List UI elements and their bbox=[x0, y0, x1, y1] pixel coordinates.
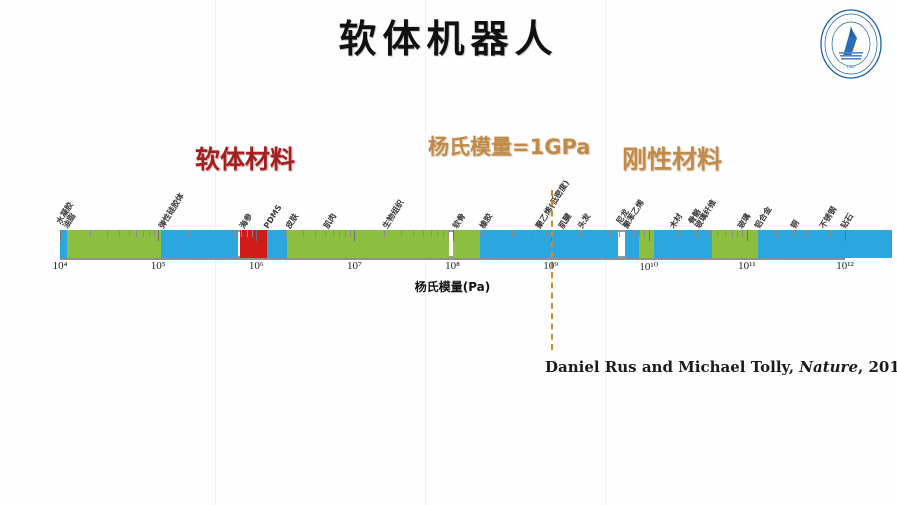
x-axis-title: 杨氏模量(Pa) bbox=[55, 278, 850, 295]
axis-tick-minor bbox=[443, 230, 444, 237]
axis-tick-minor bbox=[644, 230, 645, 237]
axis-tick-major bbox=[747, 230, 748, 241]
material-label: 头发 bbox=[577, 212, 593, 230]
material-label: 玻璃 bbox=[736, 212, 752, 230]
axis-tick-minor bbox=[776, 230, 777, 237]
axis-tick-label: 10⁷ bbox=[347, 260, 362, 272]
axis-tick-major bbox=[256, 230, 257, 241]
axis-tick-minor bbox=[794, 230, 795, 237]
svg-text:1952: 1952 bbox=[847, 64, 857, 69]
axis-tick-minor bbox=[499, 230, 500, 237]
axis-tick-minor bbox=[333, 230, 334, 237]
axis-tick-minor bbox=[521, 230, 522, 237]
axis-tick-minor bbox=[350, 230, 351, 237]
axis-tick-label: 10¹¹ bbox=[738, 260, 756, 272]
material-label: 肌肉 bbox=[323, 212, 339, 230]
material-label: 肌腱 bbox=[558, 212, 574, 230]
axis-tick-minor bbox=[423, 230, 424, 237]
axis-tick-minor bbox=[696, 230, 697, 237]
axis-tick-minor bbox=[512, 230, 513, 237]
material-band bbox=[67, 230, 161, 258]
axis-tick-minor bbox=[841, 230, 842, 237]
citation: Daniel Rus and Michael Tolly, Nature, 20… bbox=[545, 358, 897, 376]
citation-year: , 2015 bbox=[858, 358, 897, 376]
axis-tick-minor bbox=[708, 230, 709, 237]
axis-tick-minor bbox=[345, 230, 346, 237]
youngs-modulus-scale-chart: 水凝胶油脂弹性硅胶体海参PDMS皮肤肌肉生物组织软骨橡胶聚乙烯(低密度)肌腱头发… bbox=[55, 190, 850, 300]
material-band bbox=[834, 230, 893, 258]
material-label: 弹性硅胶体 bbox=[158, 192, 186, 230]
material-band bbox=[385, 230, 450, 258]
material-label: 橡胶 bbox=[479, 212, 495, 230]
axis-tick-minor bbox=[815, 230, 816, 237]
annotation-rigid-materials: 刚性材料 bbox=[622, 140, 722, 176]
axis-tick-minor bbox=[529, 230, 530, 237]
axis-tick-minor bbox=[619, 230, 620, 237]
axis-tick-minor bbox=[448, 230, 449, 237]
axis-tick-major bbox=[60, 230, 61, 241]
axis-tick-minor bbox=[835, 230, 836, 237]
annotation-soft-materials: 软体材料 bbox=[195, 140, 295, 176]
presentation-slide: 软体机器人 1952 软体材料 杨氏模量=1GPa 刚性材料 水凝胶油脂弹性硅胶… bbox=[0, 0, 897, 505]
axis-tick-minor bbox=[401, 230, 402, 237]
axis-tick-minor bbox=[188, 230, 189, 237]
axis-tick-minor bbox=[339, 230, 340, 237]
axis-tick-minor bbox=[205, 230, 206, 237]
axis-tick-minor bbox=[437, 230, 438, 237]
axis-tick-minor bbox=[234, 230, 235, 237]
axis-tick-minor bbox=[541, 230, 542, 237]
axis-tick-minor bbox=[806, 230, 807, 237]
axis-tick-minor bbox=[107, 230, 108, 237]
axis-tick-minor bbox=[252, 230, 253, 237]
axis-tick-minor bbox=[413, 230, 414, 237]
axis-tick-major bbox=[845, 230, 846, 241]
axis-tick-minor bbox=[247, 230, 248, 237]
axis-tick-minor bbox=[627, 230, 628, 237]
axis-tick-minor bbox=[830, 230, 831, 237]
axis-tick-minor bbox=[149, 230, 150, 237]
citation-journal: Nature bbox=[799, 358, 858, 376]
axis-tick-minor bbox=[580, 230, 581, 237]
axis-tick-minor bbox=[286, 230, 287, 237]
axis-tick-minor bbox=[732, 230, 733, 237]
axis-tick-major bbox=[354, 230, 355, 241]
axis-tick-label: 10⁹ bbox=[543, 260, 558, 272]
axis-tick-label: 10⁶ bbox=[249, 260, 264, 272]
material-label: 水凝胶油脂 bbox=[56, 201, 82, 230]
axis-tick-minor bbox=[823, 230, 824, 237]
material-label: 木材 bbox=[669, 212, 685, 230]
material-label: PDMS bbox=[263, 203, 284, 230]
axis-tick-minor bbox=[384, 230, 385, 237]
axis-tick-minor bbox=[154, 230, 155, 237]
axis-tick-minor bbox=[742, 230, 743, 237]
annotation-1gpa: 杨氏模量=1GPa bbox=[428, 131, 590, 161]
material-label: 尼龙聚苯乙烯 bbox=[616, 194, 647, 230]
axis-tick-minor bbox=[136, 230, 137, 237]
material-label: 皮肤 bbox=[285, 212, 301, 230]
axis-tick-minor bbox=[315, 230, 316, 237]
axis-tick-major bbox=[649, 230, 650, 241]
axis-tick-minor bbox=[535, 230, 536, 237]
axis-tick-minor bbox=[737, 230, 738, 237]
axis-tick-minor bbox=[431, 230, 432, 237]
page-title: 软体机器人 bbox=[0, 8, 897, 63]
axis-tick-minor bbox=[325, 230, 326, 237]
axis-tick-label: 10¹⁰ bbox=[639, 260, 658, 273]
axis-tick-minor bbox=[143, 230, 144, 237]
axis-tick-minor bbox=[241, 230, 242, 237]
axis-tick-minor bbox=[717, 230, 718, 237]
axis-tick-minor bbox=[129, 230, 130, 237]
material-label: 生物组织 bbox=[382, 198, 406, 230]
material-label: 钻石 bbox=[840, 212, 856, 230]
axis-tick-minor bbox=[725, 230, 726, 237]
material-label: 铜 bbox=[790, 219, 801, 230]
axis-tick-major bbox=[158, 230, 159, 241]
axis-tick-label: 10⁸ bbox=[445, 260, 460, 272]
axis-tick-minor bbox=[678, 230, 679, 237]
axis-tick-major bbox=[453, 230, 454, 241]
axis-tick-minor bbox=[597, 230, 598, 237]
material-label: 软骨 bbox=[452, 212, 468, 230]
axis-tick-label: 10¹² bbox=[836, 260, 854, 272]
material-label: 不锈钢 bbox=[818, 205, 838, 230]
axis-tick-minor bbox=[546, 230, 547, 237]
axis-tick-minor bbox=[610, 230, 611, 237]
axis-tick-minor bbox=[634, 230, 635, 237]
material-band bbox=[325, 230, 390, 258]
axis-tick-minor bbox=[482, 230, 483, 237]
axis-tick-label: 10⁴ bbox=[53, 260, 68, 272]
axis-tick-minor bbox=[217, 230, 218, 237]
material-label: 骨骼玻璃纤维 bbox=[687, 194, 718, 230]
citation-authors: Daniel Rus and Michael Tolly, bbox=[545, 358, 794, 376]
modulus-scale-bar: 水凝胶油脂弹性硅胶体海参PDMS皮肤肌肉生物组织软骨橡胶聚乙烯(低密度)肌腱头发… bbox=[60, 230, 845, 258]
axis-tick-minor bbox=[227, 230, 228, 237]
axis-tick-minor bbox=[119, 230, 120, 237]
university-seal-logo: 1952 bbox=[817, 8, 885, 80]
material-label: 铝合金 bbox=[754, 205, 774, 230]
axis-tick-minor bbox=[639, 230, 640, 237]
axis-tick-label: 10⁵ bbox=[151, 260, 166, 272]
axis-tick-minor bbox=[303, 230, 304, 237]
material-label: 海参 bbox=[239, 212, 255, 230]
axis-tick-minor bbox=[90, 230, 91, 237]
